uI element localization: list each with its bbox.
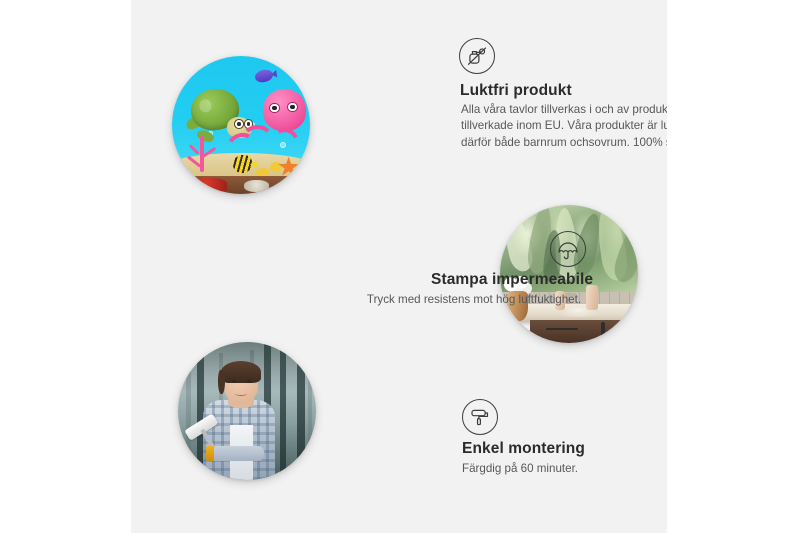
feature-description-mounting: Färgdig på 60 minuter. (462, 461, 667, 477)
door-handle-icon (601, 322, 606, 339)
octopus-eye (269, 103, 279, 113)
paint-roller-icon (462, 399, 498, 435)
feature-image-mounting (178, 342, 316, 480)
no-fragrance-icon (459, 38, 495, 74)
paint-roller-grip (206, 446, 214, 461)
coral-branch (189, 144, 200, 155)
turtle-eye (234, 119, 244, 129)
content-panel: Luktfri produkt Alla våra tavlor tillver… (131, 0, 667, 533)
feature-description-odorless: Alla våra tavlor tillverkas i och av pro… (461, 102, 667, 151)
painter-scene (178, 342, 316, 480)
coral-group (179, 131, 226, 172)
feature-image-odorless (172, 56, 310, 194)
feature-description-waterproof: Tryck med resistens mot hög luftfuktighe… (351, 292, 597, 308)
door-handle-icon (630, 322, 635, 339)
underwater-scene (172, 56, 310, 194)
octopus-eye (287, 102, 297, 112)
feature-title-mounting: Enkel montering (462, 440, 585, 458)
feature-title-waterproof: Stampa impermeabile (431, 271, 593, 289)
umbrella-icon (550, 231, 586, 267)
woman-hair (221, 361, 261, 383)
coral-branch (202, 147, 217, 159)
product-feature-infographic: Luktfri produkt Alla våra tavlor tillver… (0, 0, 800, 533)
feature-title-odorless: Luktfri produkt (460, 82, 572, 100)
drawer-handle-icon (546, 328, 578, 330)
woman-smile (235, 391, 247, 396)
vanity-cabinet (530, 320, 638, 343)
shipwreck-foreground (172, 176, 310, 194)
